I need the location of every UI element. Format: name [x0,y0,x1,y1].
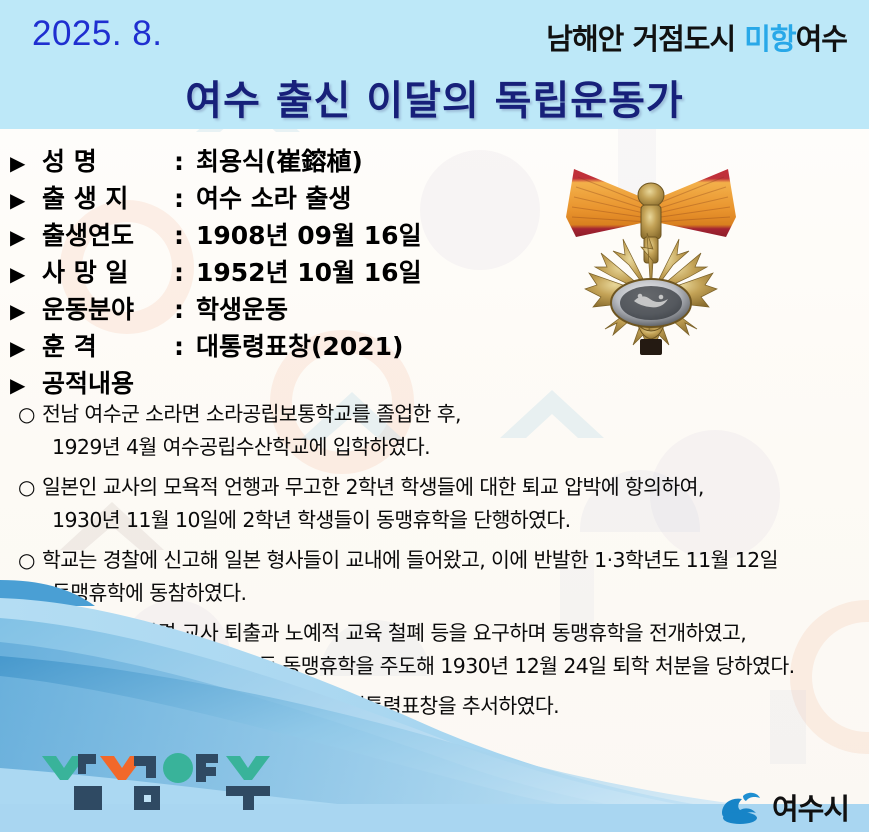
triangle-bullet-icon: ▶ [10,375,32,395]
info-value-field: 학생운동 [196,290,288,326]
info-row-award: ▶ 훈 격 : 대통령표창(2021) [10,327,550,364]
poster-root: 2025. 8. 남해안 거점도시 미항여수 여수 출신 이달의 독립운동가 [0,0,869,832]
achievements-list: ○ 전남 여수군 소라면 소라공립보통학교를 졸업한 후, ○ 1929년 4월… [18,398,858,730]
yeosu-wave-bird-icon [716,787,764,827]
achievement-line: ○ 학교는 경찰에 신고해 일본 형사들이 교내에 들어왔고, 이에 반발한 1… [18,544,858,577]
info-label-name: 성 명 [42,142,174,178]
triangle-bullet-icon: ▶ [10,264,32,284]
triangle-bullet-icon: ▶ [10,301,32,321]
achievements-heading: 공적내용 [42,364,134,400]
achievement-line: ○ 1929년 4월 여수공립수산학교에 입학하였다. [18,431,858,464]
achievement-text: 학교는 경찰에 신고해 일본 형사들이 교내에 들어왔고, 이에 반발한 1·3… [42,544,778,577]
city-slogan: 남해안 거점도시 미항여수 [546,16,847,58]
page-title: 여수 출신 이달의 독립운동가 [0,68,869,126]
circle-bullet-icon: ○ [18,544,42,577]
info-colon-birthplace: : [174,184,196,213]
info-value-award: 대통령표창(2021) [196,327,403,363]
logo-glyph-su [226,756,270,810]
info-row-birthplace: ▶ 출 생 지 : 여수 소라 출생 [10,179,550,216]
achievement-item: ○ 학교는 경찰에 신고해 일본 형사들이 교내에 들어왔고, 이에 반발한 1… [18,544,858,610]
info-colon-birthdate: : [174,221,196,250]
achievement-line: ○ 학생들은 무자격 교사 퇴출과 노예적 교육 철폐 등을 요구하며 동맹휴학… [18,617,858,650]
achievement-text: 1929년 4월 여수공립수산학교에 입학하였다. [42,431,430,464]
circle-bullet-icon: ○ [18,617,42,650]
info-colon-name: : [174,147,196,176]
info-label-birthdate: 출생연도 [42,216,174,252]
info-value-name: 최용식(崔鎔植) [196,142,363,178]
achievement-item: ○ 전남 여수군 소라면 소라공립보통학교를 졸업한 후, ○ 1929년 4월… [18,398,858,464]
circle-bullet-icon: ○ [18,690,42,723]
logo-glyph-yeo [163,753,218,783]
info-label-birthplace: 출 생 지 [42,179,174,215]
info-row-name: ▶ 성 명 : 최용식(崔鎔植) [10,142,550,179]
info-colon-deathdate: : [174,258,196,287]
achievement-text: 정부는 고인의 공적을 기려, 2021년 대통령표창을 추서하였다. [42,690,559,723]
achievement-text: 동맹휴학에 동참하였다. [42,577,246,610]
info-label-deathdate: 사 망 일 [42,253,174,289]
logo-glyph-seom [42,754,102,810]
yeosu-city-logo: 여수시 [716,786,849,828]
issue-date: 2025. 8. [32,14,163,54]
achievement-text: 최용식 선생은 등교 저지 등 동맹휴학을 주도해 1930년 12월 24일 … [42,650,795,683]
info-row-field: ▶ 운동분야 : 학생운동 [10,290,550,327]
info-label-award: 훈 격 [42,327,174,363]
logo-glyph-gim [100,756,160,810]
achievement-text: 학생들은 무자격 교사 퇴출과 노예적 교육 철폐 등을 요구하며 동맹휴학을 … [42,617,746,650]
info-value-deathdate: 1952년 10월 16일 [196,253,422,289]
achievement-line: ○ 동맹휴학에 동참하였다. [18,577,858,610]
triangle-bullet-icon: ▶ [10,227,32,247]
achievement-text: 전남 여수군 소라면 소라공립보통학교를 졸업한 후, [42,398,461,431]
achievement-line: ○ 일본인 교사의 모욕적 언행과 무고한 2학년 학생들에 대한 퇴교 압박에… [18,471,858,504]
info-row-birthdate: ▶ 출생연도 : 1908년 09월 16일 [10,216,550,253]
slogan-text-lead: 남해안 거점도시 [546,22,744,56]
info-value-birthplace: 여수 소라 출생 [196,179,351,215]
info-colon-field: : [174,295,196,324]
achievement-line: ○ 1930년 11월 10일에 2학년 학생들이 동맹휴학을 단행하였다. [18,504,858,537]
info-colon-award: : [174,332,196,361]
profile-info-list: ▶ 성 명 : 최용식(崔鎔植) ▶ 출 생 지 : 여수 소라 출생 ▶ 출생… [10,142,550,401]
info-label-field: 운동분야 [42,290,174,326]
info-row-achievements-heading: ▶ 공적내용 [10,364,550,401]
achievement-item: ○ 정부는 고인의 공적을 기려, 2021년 대통령표창을 추서하였다. [18,690,858,723]
info-row-deathdate: ▶ 사 망 일 : 1952년 10월 16일 [10,253,550,290]
achievement-line: ○ 정부는 고인의 공적을 기려, 2021년 대통령표창을 추서하였다. [18,690,858,723]
achievement-item: ○ 학생들은 무자격 교사 퇴출과 노예적 교육 철폐 등을 요구하며 동맹휴학… [18,617,858,683]
seomgim-yeosu-logo [38,752,278,814]
slogan-text-accent: 미항 [744,22,795,56]
achievement-text: 1930년 11월 10일에 2학년 학생들이 동맹휴학을 단행하였다. [42,504,571,537]
achievement-text: 일본인 교사의 모욕적 언행과 무고한 2학년 학생들에 대한 퇴교 압박에 항… [42,471,704,504]
achievement-item: ○ 일본인 교사의 모욕적 언행과 무고한 2학년 학생들에 대한 퇴교 압박에… [18,471,858,537]
triangle-bullet-icon: ▶ [10,153,32,173]
yeosu-city-label: 여수시 [772,786,849,828]
achievement-line: ○ 전남 여수군 소라면 소라공립보통학교를 졸업한 후, [18,398,858,431]
triangle-bullet-icon: ▶ [10,338,32,358]
achievement-line: ○ 최용식 선생은 등교 저지 등 동맹휴학을 주도해 1930년 12월 24… [18,650,858,683]
slogan-text-tail: 여수 [796,22,847,56]
info-value-birthdate: 1908년 09월 16일 [196,216,422,252]
medal-image [556,155,746,365]
triangle-bullet-icon: ▶ [10,190,32,210]
circle-bullet-icon: ○ [18,398,42,431]
circle-bullet-icon: ○ [18,471,42,504]
